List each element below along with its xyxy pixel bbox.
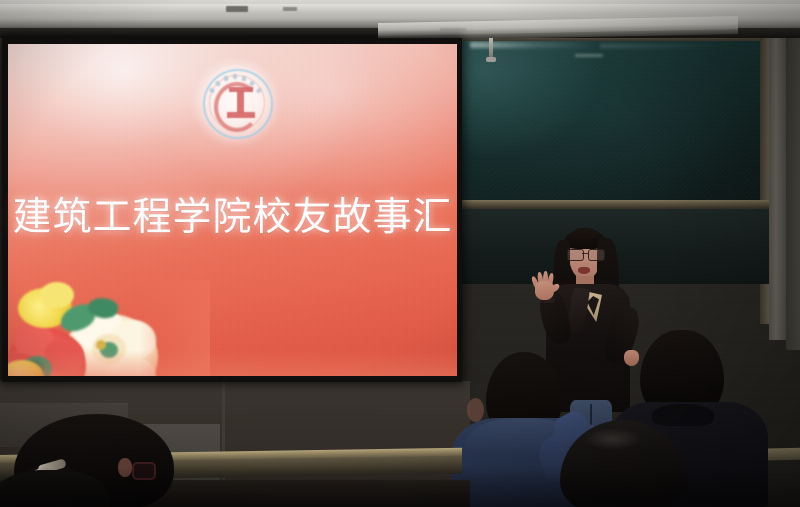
chalk-fleck xyxy=(575,54,603,57)
slide-title: 建筑工程学院校友故事汇 xyxy=(8,196,457,240)
ceiling-fixture-mark-secondary xyxy=(283,7,297,11)
chalk-smudge-secondary xyxy=(600,44,720,48)
wall-pilaster xyxy=(769,10,787,340)
screen-pull-knob[interactable] xyxy=(486,57,496,62)
presenter-glasses-icon xyxy=(567,249,603,259)
presenter-open-hand xyxy=(531,270,557,300)
screen-roller-badge xyxy=(440,28,466,32)
presenter-palm xyxy=(535,281,554,300)
ceiling-fixture-mark xyxy=(226,6,248,12)
lecture-hall-photo: 建筑工程学院校友故事汇 xyxy=(0,0,800,507)
blackboard-grain xyxy=(462,40,772,218)
wall-pilaster-edge xyxy=(786,10,800,350)
audience-blue-hoodie-ear xyxy=(467,398,484,422)
audience-left-ear xyxy=(118,458,132,477)
blackboard xyxy=(462,40,772,218)
presenter-mouth xyxy=(578,267,590,274)
ceiling-rail xyxy=(0,4,800,14)
audience-left-glasses-icon xyxy=(132,462,156,480)
screen-bottom-glow xyxy=(8,350,457,376)
chalk-tray xyxy=(462,200,774,209)
audience-front-center-hair-sheen xyxy=(584,428,642,450)
crest-gong-glyph xyxy=(226,86,256,120)
audience-front-center xyxy=(560,420,690,507)
